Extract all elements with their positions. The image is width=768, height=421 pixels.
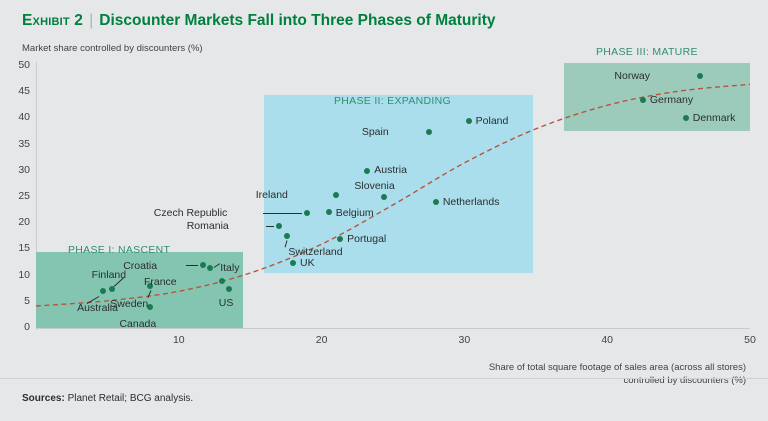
- data-label-italy: Italy: [220, 262, 239, 274]
- data-label-netherlands: Netherlands: [443, 196, 500, 208]
- data-label-czech-republic: Czech Republic: [0, 207, 227, 219]
- sources-label: Sources:: [22, 393, 65, 404]
- data-label-belgium: Belgium: [336, 207, 374, 219]
- y-tick-label: 35: [2, 138, 30, 150]
- leader-line: [266, 226, 274, 227]
- sources-note: Sources: Planet Retail; BCG analysis.: [22, 393, 193, 404]
- x-axis-title-line1: Share of total square footage of sales a…: [416, 362, 746, 375]
- x-tick-label: 40: [587, 334, 627, 346]
- leader-line: [186, 265, 198, 266]
- data-label-france: France: [0, 276, 177, 288]
- leader-line: [263, 213, 302, 214]
- data-label-austria: Austria: [374, 164, 407, 176]
- title-text: Discounter Markets Fall into Three Phase…: [99, 12, 495, 30]
- y-axis-title: Market share controlled by discounters (…: [22, 43, 203, 54]
- data-point-uk[interactable]: [290, 260, 296, 266]
- data-label-spain: Spain: [0, 126, 389, 138]
- x-tick-label: 10: [159, 334, 199, 346]
- footer-divider: [0, 378, 768, 379]
- data-point-germany[interactable]: [640, 97, 646, 103]
- exhibit-container: Exhibit 2 | Discounter Markets Fall into…: [0, 0, 768, 421]
- data-label-slovenia: Slovenia: [354, 180, 394, 192]
- title-separator: |: [89, 12, 93, 30]
- data-label-norway: Norway: [0, 70, 650, 82]
- data-point-france[interactable]: [219, 278, 225, 284]
- y-tick-label: 50: [2, 59, 30, 71]
- data-label-romania: Romania: [0, 220, 229, 232]
- x-tick-label: 20: [302, 334, 342, 346]
- y-tick-label: 45: [2, 85, 30, 97]
- data-point-poland[interactable]: [466, 118, 472, 124]
- data-label-switzerland: Switzerland: [288, 246, 342, 258]
- x-axis-title-line2: controlled by discounters (%): [416, 375, 746, 388]
- phase-label-phase3: PHASE III: MATURE: [596, 46, 698, 58]
- y-tick-label: 40: [2, 111, 30, 123]
- phase-label-phase1: PHASE I: NASCENT: [68, 244, 170, 256]
- y-tick-label: 30: [2, 164, 30, 176]
- data-label-ireland: Ireland: [0, 189, 288, 201]
- data-label-portugal: Portugal: [347, 233, 386, 245]
- phase-label-phase2: PHASE II: EXPANDING: [334, 95, 451, 107]
- data-point-belgium[interactable]: [326, 209, 332, 215]
- sources-text: Planet Retail; BCG analysis.: [68, 393, 194, 404]
- x-tick-label: 50: [730, 334, 768, 346]
- x-tick-label: 30: [444, 334, 484, 346]
- exhibit-number: Exhibit 2: [22, 12, 83, 30]
- data-label-poland: Poland: [476, 115, 509, 127]
- page-title: Exhibit 2 | Discounter Markets Fall into…: [22, 8, 742, 34]
- data-label-uk: UK: [300, 257, 315, 269]
- data-label-croatia: Croatia: [0, 260, 157, 272]
- data-label-sweden: Sweden: [0, 298, 148, 310]
- data-label-canada: Canada: [0, 318, 156, 330]
- data-label-germany: Germany: [650, 94, 693, 106]
- data-point-spain[interactable]: [426, 129, 432, 135]
- data-point-us[interactable]: [226, 286, 232, 292]
- y-tick-label: 15: [2, 242, 30, 254]
- data-label-us: US: [219, 297, 234, 309]
- data-label-denmark: Denmark: [693, 112, 736, 124]
- data-point-romania[interactable]: [276, 223, 282, 229]
- x-axis-title: Share of total square footage of sales a…: [416, 362, 746, 387]
- data-point-italy[interactable]: [207, 265, 213, 271]
